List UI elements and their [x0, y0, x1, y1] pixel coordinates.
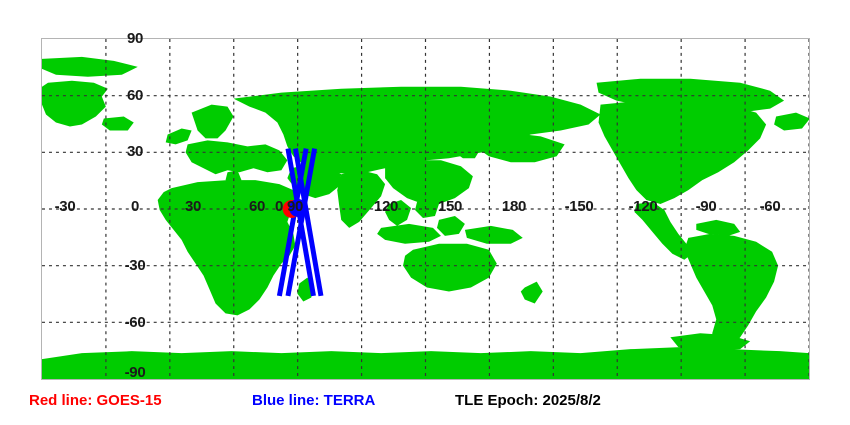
lon-label--60: -60	[748, 198, 792, 215]
legend-red-line-goes15: Red line: GOES-15	[29, 392, 162, 409]
lon-label-180: 180	[492, 198, 536, 215]
lat-label-90: 90	[118, 30, 152, 47]
lon-label-120: 120	[364, 198, 408, 215]
lon-label-30: 30	[176, 198, 210, 215]
lon-label--30: -30	[43, 198, 87, 215]
lon-label--120: -120	[616, 198, 670, 215]
map-legend: Red line: GOES-15 Blue line: TERRA TLE E…	[0, 392, 850, 422]
lon-label--90: -90	[684, 198, 728, 215]
lon-label--150: -150	[552, 198, 606, 215]
lon-label-90: 90	[278, 198, 312, 215]
lat-label--60: -60	[114, 314, 156, 331]
satellite-ground-track-map: 90 60 30 -30 -60 -90 -30 0 30 60 0 90 12…	[0, 0, 850, 425]
lon-label-0: 0	[118, 198, 152, 215]
lon-label-150: 150	[428, 198, 472, 215]
legend-blue-line-terra: Blue line: TERRA	[252, 392, 375, 409]
lat-label-30: 30	[118, 143, 152, 160]
lat-label-60: 60	[118, 87, 152, 104]
legend-tle-epoch: TLE Epoch: 2025/8/2	[455, 392, 601, 409]
lat-label--90: -90	[114, 364, 156, 381]
lat-label--30: -30	[114, 257, 156, 274]
